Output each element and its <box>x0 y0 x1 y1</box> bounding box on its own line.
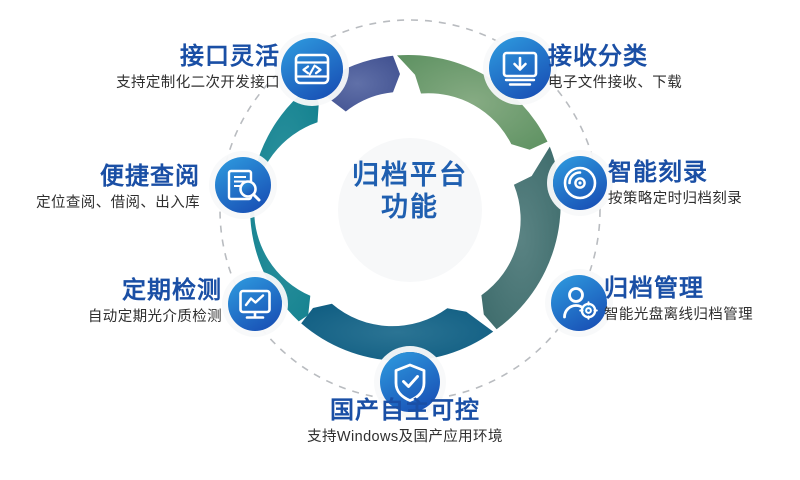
optical-disc-icon <box>553 156 607 210</box>
feature-label-domestic-control: 国产自主可控 支持Windows及国产应用环境 <box>250 398 560 446</box>
feature-title: 接口灵活 <box>40 44 280 71</box>
feature-label-smart-burn: 智能刻录 按策略定时归档刻录 <box>608 160 798 208</box>
feature-title: 国产自主可控 <box>250 398 560 425</box>
feature-title: 定期检测 <box>22 278 222 305</box>
icon-badge-archive-manage[interactable] <box>551 275 607 331</box>
feature-label-receive-classify: 接收分类 电子文件接收、下载 <box>548 44 798 92</box>
feature-subtitle: 支持定制化二次开发接口 <box>40 75 280 92</box>
center-title: 归档平台 功能 <box>330 160 490 224</box>
feature-subtitle: 智能光盘离线归档管理 <box>604 307 800 324</box>
code-window-icon <box>281 38 343 100</box>
feature-title: 智能刻录 <box>608 160 798 187</box>
feature-title: 便捷查阅 <box>0 164 200 191</box>
icon-badge-flexible-interface[interactable] <box>281 38 343 100</box>
center-title-line2: 功能 <box>330 192 490 224</box>
user-gear-icon <box>551 275 607 331</box>
feature-title: 接收分类 <box>548 44 798 71</box>
feature-label-convenient-browse: 便捷查阅 定位查阅、借阅、出入库 <box>0 164 200 212</box>
center-title-line1: 归档平台 <box>352 160 468 190</box>
feature-label-archive-manage: 归档管理 智能光盘离线归档管理 <box>604 276 800 324</box>
feature-label-flexible-interface: 接口灵活 支持定制化二次开发接口 <box>40 44 280 92</box>
icon-badge-convenient-browse[interactable] <box>215 157 271 213</box>
document-search-icon <box>215 157 271 213</box>
feature-subtitle: 支持Windows及国产应用环境 <box>250 429 560 446</box>
feature-subtitle: 自动定期光介质检测 <box>22 309 222 326</box>
feature-label-periodic-detect: 定期检测 自动定期光介质检测 <box>22 278 222 326</box>
icon-badge-periodic-detect[interactable] <box>228 277 282 331</box>
feature-subtitle: 定位查阅、借阅、出入库 <box>0 195 200 212</box>
monitor-download-icon <box>489 37 551 99</box>
feature-subtitle: 按策略定时归档刻录 <box>608 191 798 208</box>
icon-badge-receive-classify[interactable] <box>489 37 551 99</box>
feature-title: 归档管理 <box>604 276 800 303</box>
feature-subtitle: 电子文件接收、下载 <box>548 75 798 92</box>
monitor-chart-icon <box>228 277 282 331</box>
icon-badge-smart-burn[interactable] <box>553 156 607 210</box>
infographic-canvas: 归档平台 功能 <box>0 0 800 480</box>
ring-segment-smart-burn <box>481 147 560 330</box>
